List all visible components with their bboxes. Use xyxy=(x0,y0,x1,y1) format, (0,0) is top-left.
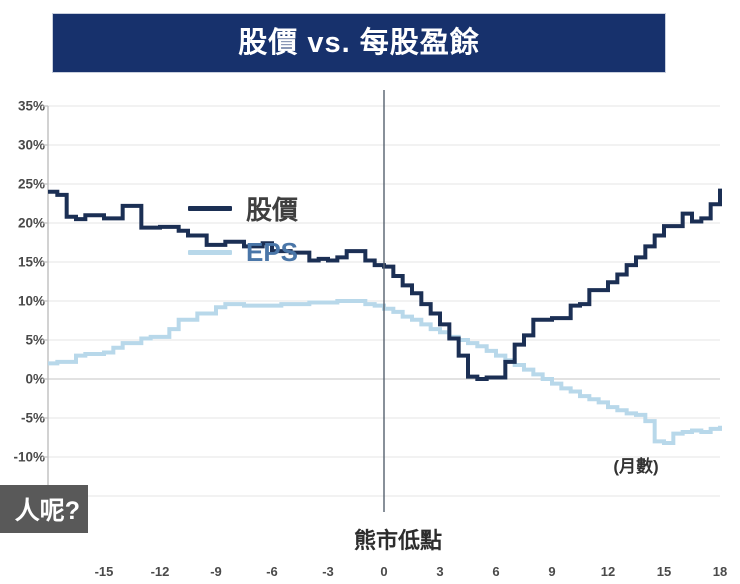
chart-container: 35%30%25%20%15%10%5%0%-5%-10%-15% 股價 EPS… xyxy=(0,86,740,506)
legend-label-price: 股價 xyxy=(246,190,298,227)
x-axis-tick: -3 xyxy=(322,564,334,579)
x-axis-tick: 9 xyxy=(548,564,555,579)
plot-svg xyxy=(48,106,720,496)
caption-overlay: 人呢? xyxy=(0,485,88,533)
y-axis-tick: 5% xyxy=(1,333,45,348)
caption-text: 人呢? xyxy=(15,491,80,527)
chart-legend: 股價 EPS xyxy=(188,186,298,274)
y-axis-tick: 35% xyxy=(1,99,45,114)
y-axis-tick: -5% xyxy=(1,411,45,426)
x-axis-labels: -15-12-9-6-30369121518 xyxy=(48,564,720,584)
x-axis-tick: 15 xyxy=(657,564,671,579)
legend-swatch-price-icon xyxy=(188,206,232,211)
legend-item-price: 股價 xyxy=(188,186,298,230)
legend-label-eps: EPS xyxy=(246,237,298,268)
x-axis-tick: 3 xyxy=(436,564,443,579)
x-axis-tick: 6 xyxy=(492,564,499,579)
plot-area xyxy=(48,106,720,496)
x-axis-tick: -6 xyxy=(266,564,278,579)
x-axis-tick: 0 xyxy=(380,564,387,579)
y-axis-tick: 25% xyxy=(1,177,45,192)
y-axis-tick: -10% xyxy=(1,450,45,465)
y-axis-tick: 20% xyxy=(1,216,45,231)
x-axis-title: 熊市低點 xyxy=(354,523,442,555)
x-axis-unit-label: (月數) xyxy=(613,452,658,477)
legend-item-eps: EPS xyxy=(188,230,298,274)
x-axis-tick: -12 xyxy=(151,564,170,579)
y-axis-tick: 10% xyxy=(1,294,45,309)
x-axis-tick: 18 xyxy=(713,564,727,579)
x-axis-tick: 12 xyxy=(601,564,615,579)
y-axis-tick: 15% xyxy=(1,255,45,270)
page-title: 股價 vs. 每股盈餘 xyxy=(238,29,479,58)
y-axis-tick: 30% xyxy=(1,138,45,153)
x-axis-tick: -15 xyxy=(95,564,114,579)
x-axis-tick: -9 xyxy=(210,564,222,579)
y-axis-tick: 0% xyxy=(1,372,45,387)
chart-title-banner: 股價 vs. 每股盈餘 xyxy=(52,13,666,73)
legend-swatch-eps-icon xyxy=(188,250,232,255)
